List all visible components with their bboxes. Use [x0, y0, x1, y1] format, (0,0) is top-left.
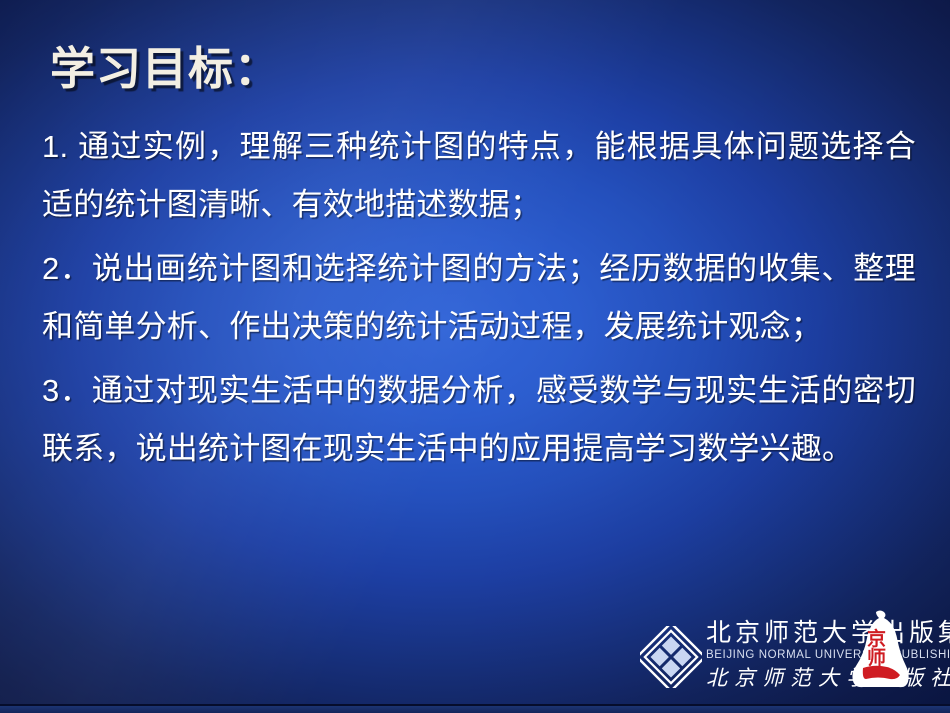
jingshi-seal-icon: 京 师 — [845, 610, 915, 688]
bottom-strip — [0, 706, 950, 713]
seal-char-shi: 师 — [867, 649, 886, 668]
objective-item-1: 1. 通过实例，理解三种统计图的特点，能根据具体问题选择合适的统计图清晰、有效地… — [42, 118, 916, 234]
objective-item-3: 3．通过对现实生活中的数据分析，感受数学与现实生活的密切联系，说出统计图在现实生… — [42, 362, 916, 478]
slide-title: 学习目标： — [50, 32, 280, 97]
publisher-logo: 北京师范大学出版集团 BEIJING NORMAL UNIVERSITY PUB… — [640, 618, 940, 698]
objective-item-2: 2．说出画统计图和选择统计图的方法；经历数据的收集、整理和简单分析、作出决策的统… — [42, 240, 916, 356]
objectives-list: 1. 通过实例，理解三种统计图的特点，能根据具体问题选择合适的统计图清晰、有效地… — [42, 118, 916, 478]
nested-diamond-emblem-icon — [640, 626, 702, 688]
presentation-slide: 学习目标： 1. 通过实例，理解三种统计图的特点，能根据具体问题选择合适的统计图… — [0, 0, 950, 713]
seal-char-jing: 京 — [867, 630, 886, 649]
